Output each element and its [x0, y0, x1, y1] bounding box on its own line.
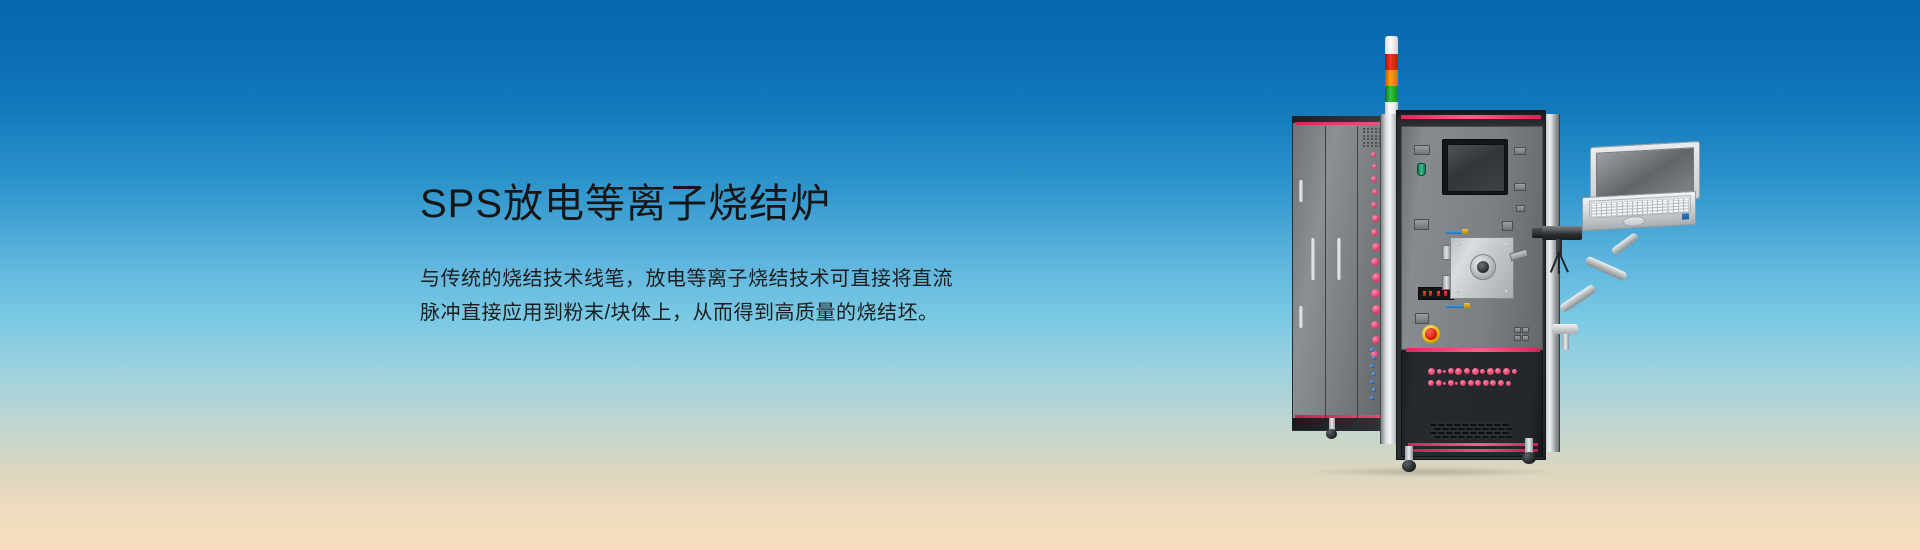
laptop-screen[interactable]	[1596, 147, 1694, 197]
switch-right-7[interactable]	[1514, 335, 1521, 341]
laptop-trackpad[interactable]	[1623, 216, 1645, 227]
connector-dot-array	[1428, 364, 1518, 386]
switch-right-2[interactable]	[1514, 183, 1526, 191]
lower-accent-top	[1406, 348, 1540, 352]
cabinet-door-split-2	[1357, 126, 1358, 418]
banner-description: 与传统的烧结技术线笔，放电等离子烧结技术可直接将直流 脉冲直接应用到粉末/块体上…	[420, 262, 953, 330]
tower-lamp-green	[1385, 86, 1398, 102]
switch-right-4[interactable]	[1502, 221, 1513, 231]
floor-shadow	[1306, 466, 1556, 478]
vent-grille	[1430, 424, 1514, 440]
touch-screen[interactable]	[1447, 144, 1505, 192]
switch-right-5[interactable]	[1514, 327, 1521, 333]
page-title: SPS放电等离子烧结炉	[420, 180, 953, 228]
lower-accent-mid	[1408, 443, 1538, 446]
description-line-2: 脉冲直接应用到粉末/块体上，从而得到高质量的烧结坯。	[420, 296, 953, 330]
cabinet-accent-top	[1295, 122, 1383, 125]
panel-accent-top	[1401, 115, 1541, 119]
pipe-bottom	[1446, 305, 1466, 308]
emergency-stop-button[interactable]	[1422, 325, 1440, 343]
switch-right-1[interactable]	[1514, 147, 1526, 155]
cabinet-handle-1[interactable]	[1311, 238, 1315, 280]
switch-power[interactable]	[1414, 145, 1430, 155]
left-cabinet	[1292, 119, 1386, 431]
banner-text-block: SPS放电等离子烧结炉 与传统的烧结技术线笔，放电等离子烧结技术可直接将直流 脉…	[420, 180, 953, 330]
touch-screen-bezel	[1442, 139, 1508, 195]
laptop-badge-icon	[1682, 213, 1689, 219]
pipe-fitting-top	[1462, 229, 1468, 234]
tower-cap	[1385, 36, 1398, 54]
pipe-fitting-bottom	[1464, 303, 1470, 308]
support-arm[interactable]	[1552, 238, 1672, 358]
viewport-icon	[1470, 254, 1496, 280]
cabinet-handle-4[interactable]	[1299, 306, 1303, 328]
control-panel-face	[1401, 126, 1543, 350]
description-line-1: 与传统的烧结技术线笔，放电等离子烧结技术可直接将直流	[420, 262, 953, 296]
product-banner: SPS放电等离子烧结炉 与传统的烧结技术线笔，放电等离子烧结技术可直接将直流 脉…	[0, 0, 1920, 550]
key-switch-icon[interactable]	[1417, 163, 1426, 176]
cabinet-door-split-1	[1325, 126, 1326, 418]
product-image	[1284, 14, 1704, 534]
caster-rear-left	[1326, 418, 1337, 438]
cabinet-handle-2[interactable]	[1337, 238, 1341, 280]
laptop-base	[1582, 191, 1696, 231]
arm-clamp-stem	[1562, 334, 1569, 350]
switch-vacuum[interactable]	[1414, 219, 1429, 230]
laptop[interactable]	[1582, 144, 1698, 232]
cabinet-handle-3[interactable]	[1299, 180, 1303, 202]
switch-right-3[interactable]	[1516, 205, 1525, 212]
caster-front-right	[1522, 438, 1536, 464]
tower-lamp-red	[1385, 54, 1398, 70]
chamber-door[interactable]	[1450, 237, 1514, 299]
switch-right-8[interactable]	[1522, 335, 1529, 341]
arm-clamp	[1552, 324, 1578, 334]
cabinet-base	[1292, 418, 1386, 430]
tower-lamp-amber	[1385, 70, 1398, 86]
caster-front-left	[1402, 446, 1416, 472]
front-panel	[1396, 110, 1546, 460]
switch-aux[interactable]	[1415, 313, 1429, 324]
switch-right-6[interactable]	[1522, 327, 1529, 333]
lower-accent-bottom	[1408, 449, 1538, 452]
laptop-keyboard[interactable]	[1589, 195, 1691, 219]
